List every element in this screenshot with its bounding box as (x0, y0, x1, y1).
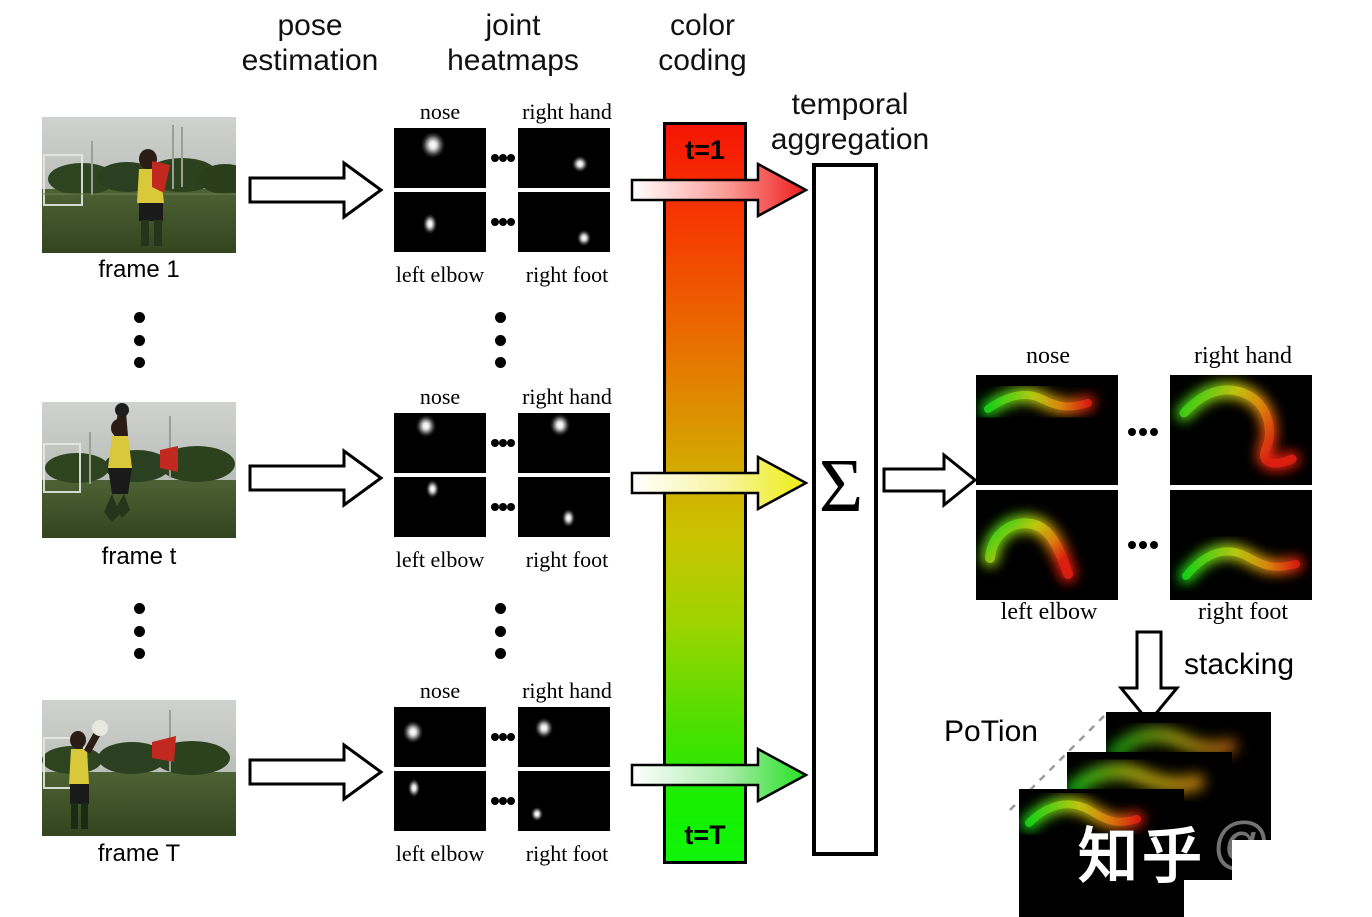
heatmap-blob (562, 509, 575, 527)
potion-label-nose: nose (998, 344, 1098, 368)
heatmap-blob (531, 807, 543, 821)
heatmap-rightfoot-row3 (518, 771, 610, 831)
frame-t-label: frame t (42, 543, 236, 571)
heatmap-label-leftelbow-row3: left elbow (378, 842, 502, 866)
sigma-symbol: Σ (812, 448, 870, 524)
heatmap-label-nose-row2: nose (390, 385, 490, 409)
potion-label-righthand: right hand (1178, 344, 1308, 368)
arrow-aggregation-to-potion (882, 452, 978, 508)
frame-T-image (42, 700, 236, 836)
heatmap-label-righthand-row3: right hand (505, 679, 629, 703)
header-pose-estimation: pose estimation (225, 8, 395, 78)
potion-ellipsis-bottom (1128, 540, 1158, 549)
heatmap-label-righthand-row2: right hand (505, 385, 629, 409)
frame-1-label: frame 1 (42, 256, 236, 284)
heatmap-ellipsis-row2-top (491, 439, 515, 447)
stacking-label: stacking (1184, 648, 1354, 682)
heatmap-label-righthand-row1: right hand (505, 100, 629, 124)
heatmap-blob (577, 230, 591, 246)
heatmap-righthand-row1 (518, 128, 610, 188)
header-color-coding-line1: color (620, 8, 785, 43)
header-pose-estimation-line2: estimation (225, 43, 395, 78)
potion-trail-righthand (1170, 375, 1312, 485)
header-color-coding: color coding (620, 8, 785, 78)
potion-trail-leftelbow (976, 490, 1118, 600)
header-joint-heatmaps-line2: heatmaps (428, 43, 598, 78)
heatmap-label-nose-row3: nose (390, 679, 490, 703)
heatmap-blob (535, 718, 553, 738)
heatmap-righthand-row2 (518, 413, 610, 473)
potion-ellipsis-top (1128, 427, 1158, 436)
watermark-handle: @Kenny (1212, 810, 1372, 877)
header-temporal-aggregation-line1: temporal (755, 87, 945, 122)
header-temporal-aggregation-line2: aggregation (755, 122, 945, 157)
heatmaps-ellipsis-bottom (494, 603, 506, 659)
arrow-t1-to-aggregation (630, 160, 810, 220)
watermark-logo: 知乎 (1078, 808, 1206, 895)
potion-trail-nose (976, 375, 1118, 485)
frames-ellipsis-bottom (133, 603, 145, 659)
heatmap-ellipsis-row1-top (491, 154, 515, 162)
heatmap-blob (416, 415, 436, 437)
heatmap-ellipsis-row2-bottom (491, 503, 515, 511)
heatmap-nose-row1 (394, 128, 486, 188)
header-temporal-aggregation: temporal aggregation (755, 87, 945, 157)
heatmap-label-leftelbow-row2: left elbow (378, 548, 502, 572)
heatmap-label-rightfoot-row3: right foot (505, 842, 629, 866)
potion-map-nose (976, 375, 1118, 485)
header-color-coding-line2: coding (620, 43, 785, 78)
heatmap-label-rightfoot-row1: right foot (505, 263, 629, 287)
heatmap-leftelbow-row3 (394, 771, 486, 831)
heatmap-label-leftelbow-row1: left elbow (378, 263, 502, 287)
heatmap-rightfoot-row1 (518, 192, 610, 252)
heatmap-ellipsis-row3-bottom (491, 797, 515, 805)
header-joint-heatmaps-line1: joint (428, 8, 598, 43)
heatmap-blob (550, 414, 570, 436)
potion-label-rightfoot: right foot (1178, 600, 1308, 624)
frames-ellipsis-top (133, 312, 145, 368)
frame-t-image (42, 402, 236, 538)
heatmap-leftelbow-row2 (394, 477, 486, 537)
potion-trail-rightfoot (1170, 490, 1312, 600)
heatmap-nose-row3 (394, 707, 486, 767)
heatmap-blob (423, 214, 437, 234)
heatmap-blob (572, 156, 588, 172)
potion-map-leftelbow (976, 490, 1118, 600)
heatmaps-ellipsis-top (494, 312, 506, 368)
heatmap-rightfoot-row2 (518, 477, 610, 537)
arrow-frameT-to-heatmaps (248, 742, 384, 802)
potion-map-righthand (1170, 375, 1312, 485)
frame-1-image (42, 117, 236, 253)
heatmap-ellipsis-row3-top (491, 733, 515, 741)
video-frame-t (42, 402, 236, 538)
potion-label-leftelbow: left elbow (984, 600, 1114, 624)
heatmap-leftelbow-row1 (394, 192, 486, 252)
heatmap-nose-row2 (394, 413, 486, 473)
video-frame-1 (42, 117, 236, 253)
heatmap-blob (426, 480, 439, 498)
heatmap-ellipsis-row1-bottom (491, 218, 515, 226)
heatmap-blob (403, 721, 423, 743)
arrow-tmid-to-aggregation (630, 453, 810, 513)
arrow-tT-to-aggregation (630, 745, 810, 805)
heatmap-blob (408, 779, 420, 797)
diagram-canvas: pose estimation joint heatmaps color cod… (0, 0, 1372, 904)
arrow-framet-to-heatmaps (248, 448, 384, 508)
heatmap-label-nose-row1: nose (390, 100, 490, 124)
frame-T-label: frame T (42, 840, 236, 868)
heatmap-blob (421, 132, 445, 158)
color-bar-bottom-label: t=T (666, 820, 744, 851)
header-pose-estimation-line1: pose (225, 8, 395, 43)
potion-map-rightfoot (1170, 490, 1312, 600)
arrow-frame1-to-heatmaps (248, 160, 384, 220)
heatmap-righthand-row3 (518, 707, 610, 767)
header-joint-heatmaps: joint heatmaps (428, 8, 598, 78)
video-frame-T (42, 700, 236, 836)
heatmap-label-rightfoot-row2: right foot (505, 548, 629, 572)
